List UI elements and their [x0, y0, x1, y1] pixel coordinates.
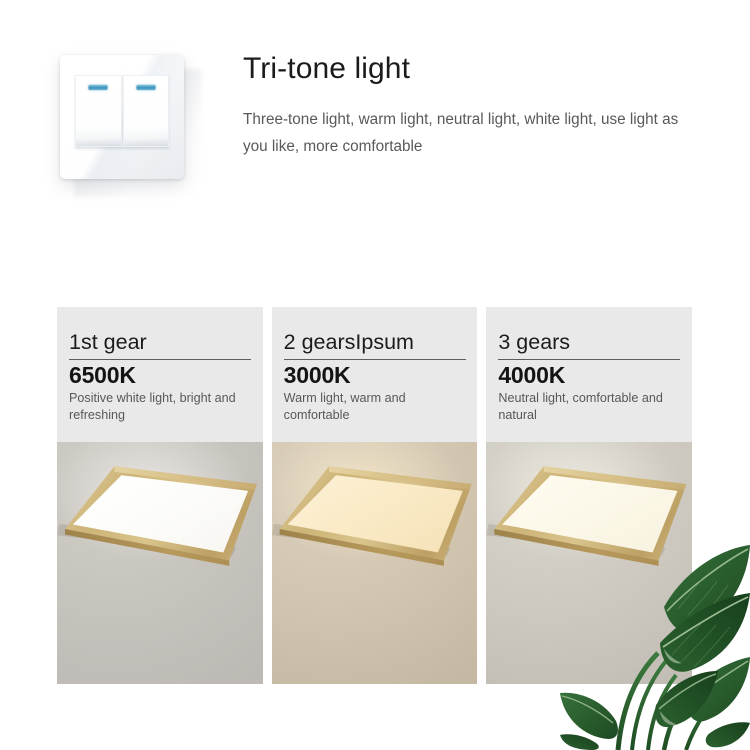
ceiling-panel-light-icon — [274, 464, 472, 576]
card-header: 2 gearsIpsum 3000K Warm light, warm and … — [272, 307, 478, 442]
color-temperature-card: 1st gear 6500K Positive white light, bri… — [57, 307, 263, 684]
plant-leaf — [560, 693, 618, 739]
gear-label: 3 gears — [498, 330, 680, 354]
led-indicator-icon — [136, 85, 155, 90]
divider — [498, 359, 680, 360]
card-photo — [272, 442, 478, 684]
ceiling-panel-light-icon — [59, 464, 257, 576]
card-photo — [57, 442, 263, 684]
kelvin-value: 3000K — [284, 362, 466, 388]
page-title: Tri-tone light — [243, 52, 410, 86]
card-header: 3 gears 4000K Neutral light, comfortable… — [486, 307, 692, 442]
color-temperature-card: 2 gearsIpsum 3000K Warm light, warm and … — [272, 307, 478, 684]
card-description: Positive white light, bright and refresh… — [69, 390, 251, 423]
led-indicator-icon — [89, 85, 108, 90]
product-feature-page: Tri-tone light Three-tone light, warm li… — [0, 0, 750, 750]
switch-rocker-right[interactable] — [123, 75, 170, 147]
kelvin-value: 6500K — [69, 362, 251, 388]
gear-label: 1st gear — [69, 330, 251, 354]
card-description: Warm light, warm and comfortable — [284, 390, 466, 423]
page-subtitle: Three-tone light, warm light, neutral li… — [243, 106, 695, 160]
hero-section: Tri-tone light Three-tone light, warm li… — [0, 0, 750, 215]
card-description: Neutral light, comfortable and natural — [498, 390, 680, 423]
wall-switch-2-gang-icon — [60, 55, 190, 185]
card-header: 1st gear 6500K Positive white light, bri… — [57, 307, 263, 442]
kelvin-value: 4000K — [498, 362, 680, 388]
divider — [284, 359, 466, 360]
divider — [69, 359, 251, 360]
tropical-plant-leaves-icon — [560, 535, 750, 750]
gear-label: 2 gearsIpsum — [284, 330, 466, 354]
switch-rocker-group — [75, 75, 169, 147]
switch-rocker-left[interactable] — [75, 75, 122, 147]
